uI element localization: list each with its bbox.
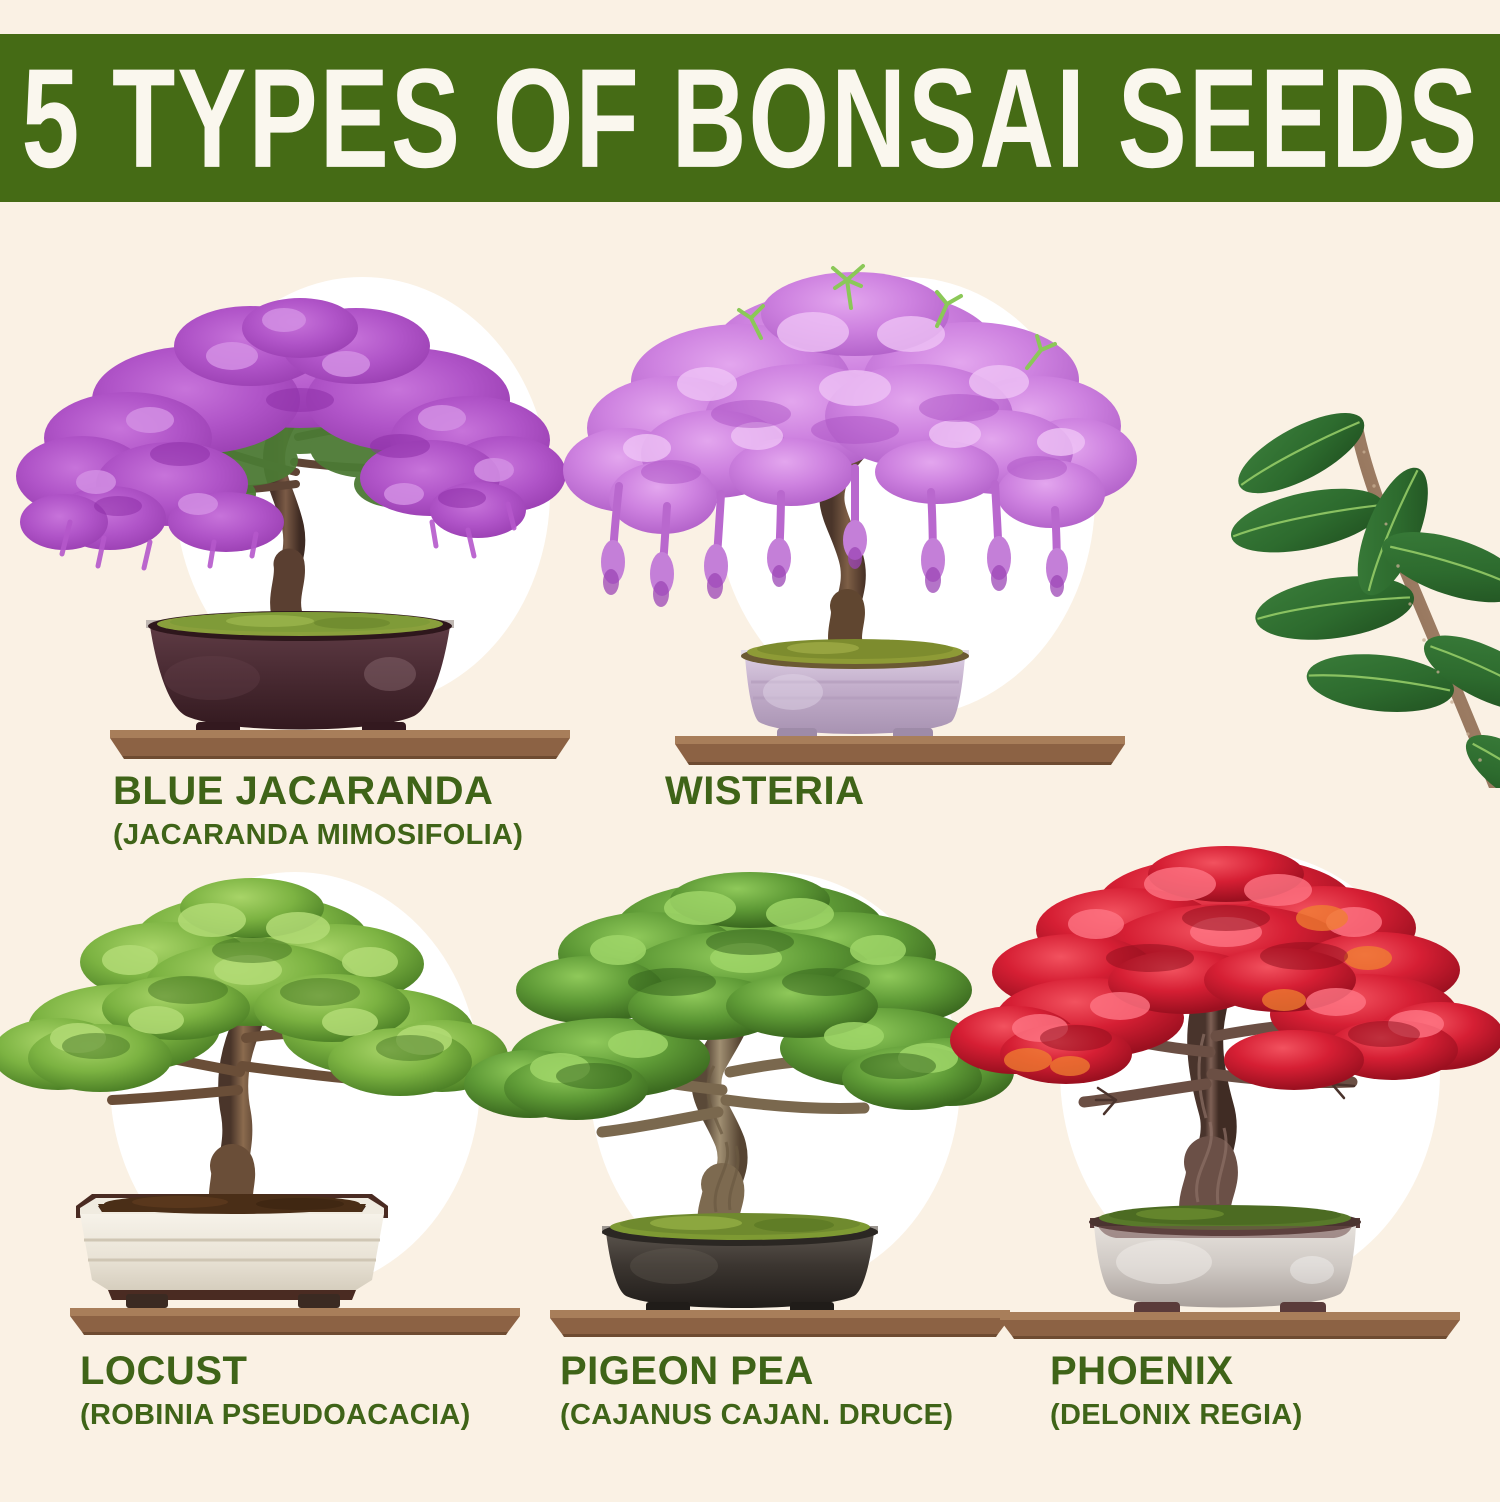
label-blue-jacaranda: BLUE JACARANDA (JACARANDA MIMOSIFOLIA) [113,770,523,853]
species-card-phoenix[interactable]: PHOENIX (DELONIX REGIA) [940,822,1500,1502]
phoenix-tree-illustration [940,822,1500,1342]
blue-jacaranda-tree-illustration [0,222,600,762]
common-name: PIGEON PEA [560,1350,953,1393]
display-shelf [110,716,570,762]
label-wisteria: WISTERIA [665,770,865,819]
tree-stage [0,222,600,762]
common-name: PHOENIX [1050,1350,1303,1393]
tree-stage [555,222,1155,762]
common-name: LOCUST [80,1350,471,1393]
species-card-blue-jacaranda[interactable]: BLUE JACARANDA (JACARANDA MIMOSIFOLIA) [0,222,600,922]
header-banner: 5 TYPES OF BONSAI SEEDS [0,34,1500,202]
leaf-branch-icon [1180,248,1500,788]
common-name: BLUE JACARANDA [113,770,523,813]
display-shelf [70,1296,520,1340]
scientific-name: (CAJANUS CAJAN. DRUCE) [560,1399,953,1432]
species-card-wisteria[interactable]: WISTERIA [555,222,1155,922]
display-shelf [675,722,1125,768]
label-locust: LOCUST (ROBINIA PSEUDOACACIA) [80,1350,471,1433]
pot [76,1194,388,1308]
scientific-name: (DELONIX REGIA) [1050,1399,1303,1432]
display-shelf [1000,1300,1460,1344]
label-phoenix: PHOENIX (DELONIX REGIA) [1050,1350,1303,1433]
tree-stage [940,822,1500,1342]
page-title: 5 TYPES OF BONSAI SEEDS [21,36,1479,200]
wisteria-tree-illustration [555,222,1155,762]
common-name: WISTERIA [665,770,865,813]
scientific-name: (ROBINIA PSEUDOACACIA) [80,1399,471,1432]
label-pigeon-pea: PIGEON PEA (CAJANUS CAJAN. DRUCE) [560,1350,953,1433]
